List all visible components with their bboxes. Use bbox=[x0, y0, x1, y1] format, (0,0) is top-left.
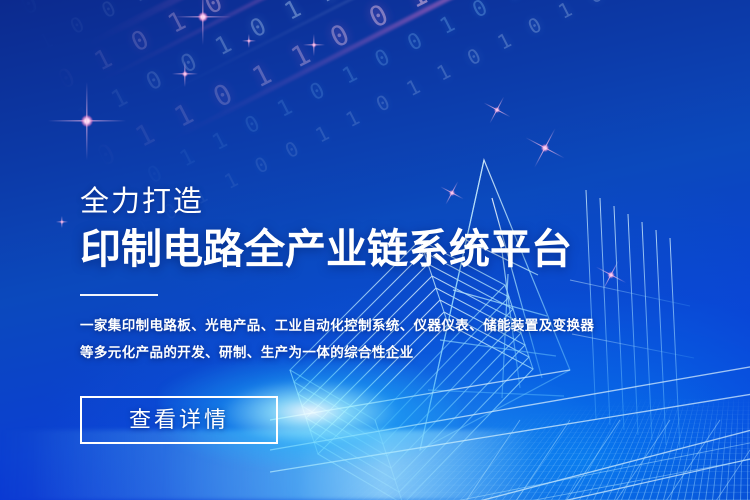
description-text: 一家集印制电路板、光电产品、工业自动化控制系统、仪器仪表、储能装置及变换器 等多… bbox=[80, 312, 594, 366]
description-line-1: 一家集印制电路板、光电产品、工业自动化控制系统、仪器仪表、储能装置及变换器 bbox=[80, 312, 594, 339]
hero-content: 全力打造 印制电路全产业链系统平台 一家集印制电路板、光电产品、工业自动化控制系… bbox=[80, 188, 594, 444]
hero-banner: 1 0 1 0 0 1 1 0 1 0 1 1 0 0 1 0 1 0 0 1 … bbox=[0, 0, 750, 500]
page-title: 印制电路全产业链系统平台 bbox=[80, 227, 594, 271]
description-line-2: 等多元化产品的开发、研制、生产为一体的综合性企业 bbox=[80, 339, 594, 366]
view-details-button[interactable]: 查看详情 bbox=[80, 396, 278, 444]
divider-rule bbox=[80, 294, 158, 296]
eyebrow-text: 全力打造 bbox=[80, 188, 594, 217]
